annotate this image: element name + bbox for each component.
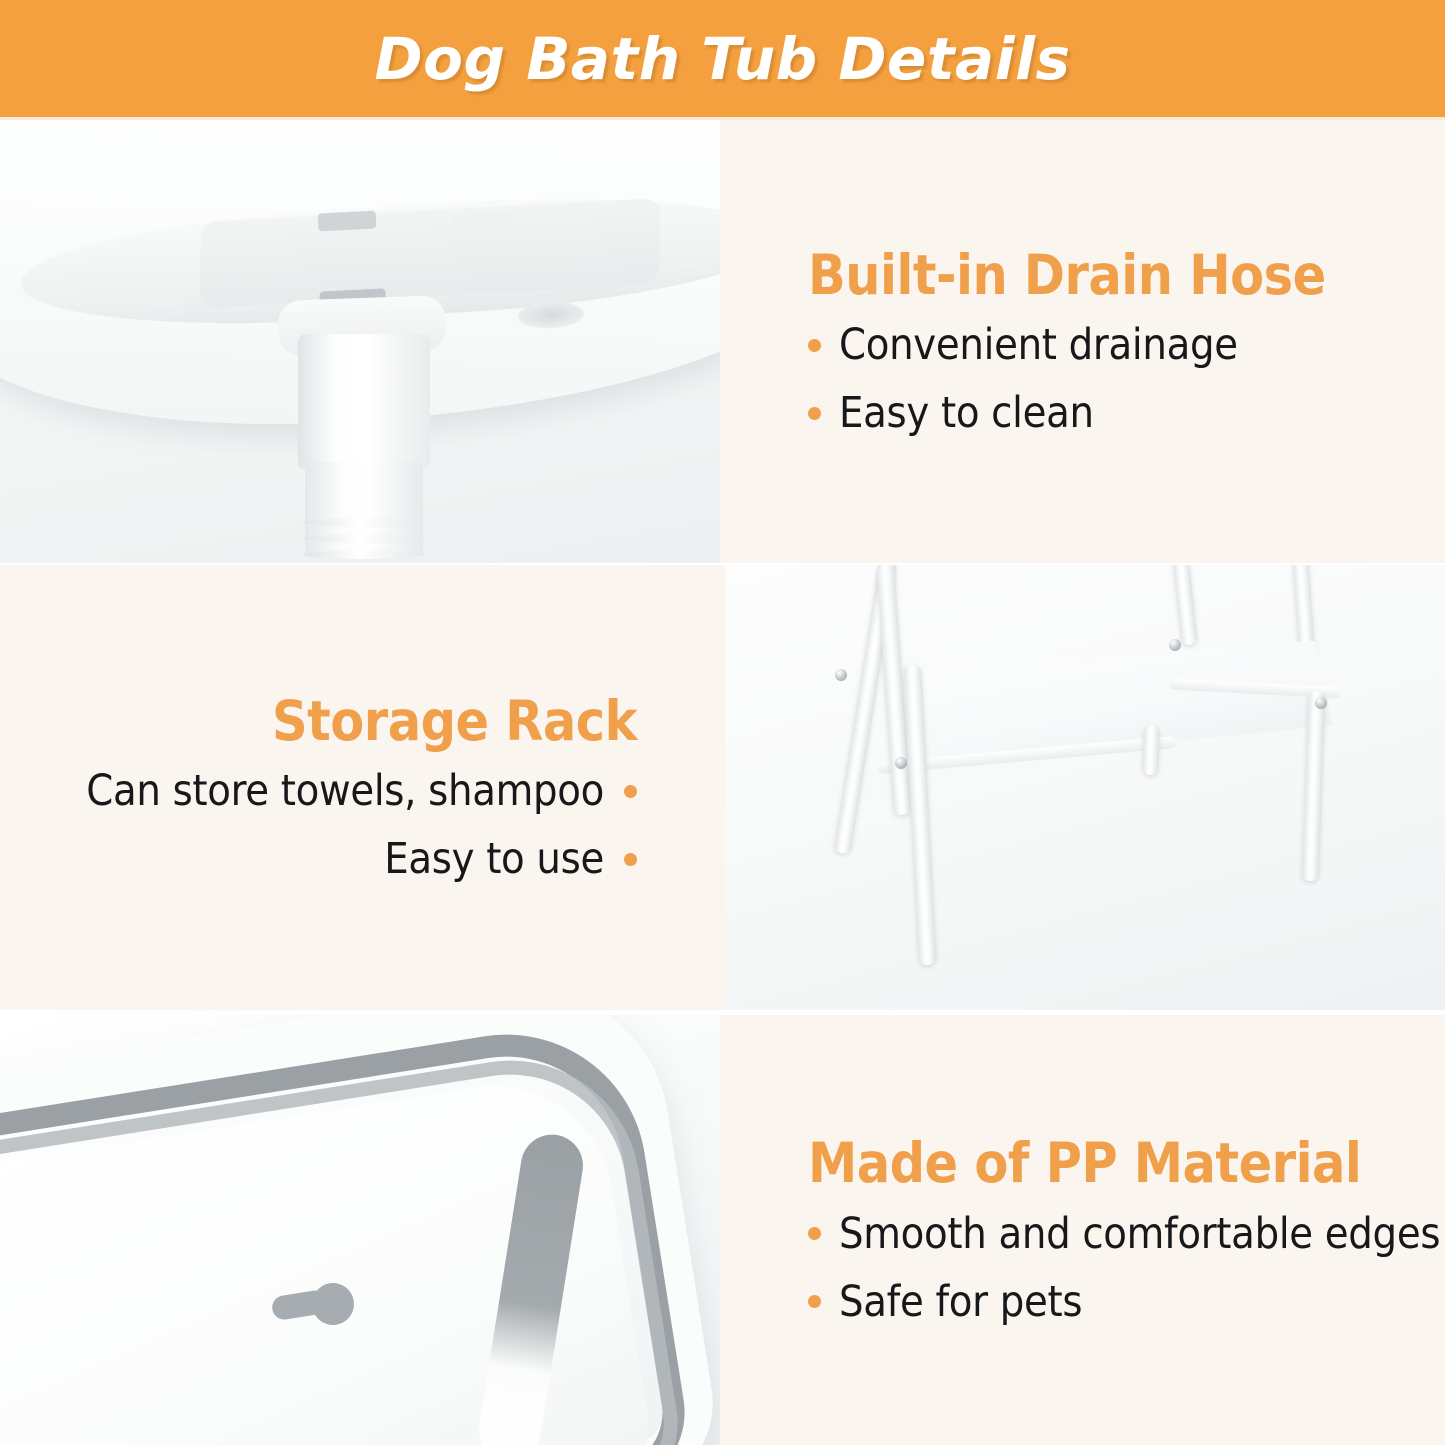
- feature-row-storage-rack: Storage Rack Can store towels, shampoo E…: [0, 565, 1445, 1010]
- storage-rack-image: [725, 565, 1445, 1010]
- rack-screw-icon: [895, 757, 907, 769]
- rack-screw-icon: [1169, 639, 1181, 651]
- bullet-dot-icon: [624, 853, 637, 866]
- page-title: Dog Bath Tub Details: [375, 30, 1071, 88]
- list-item: Can store towels, shampoo: [0, 767, 637, 815]
- list-item: Smooth and comfortable edges: [808, 1210, 1445, 1258]
- storage-rack-text-panel: Storage Rack Can store towels, shampoo E…: [0, 565, 725, 1010]
- feature-block: Built-in Drain Hose Convenient drainage …: [720, 246, 1445, 438]
- rack-screw-icon: [835, 669, 847, 681]
- list-item: Safe for pets: [808, 1278, 1445, 1326]
- feature-title: Made of PP Material: [808, 1134, 1445, 1193]
- feature-block: Made of PP Material Smooth and comfortab…: [720, 1134, 1445, 1326]
- feature-bullet-list: Smooth and comfortable edges Safe for pe…: [808, 1210, 1445, 1326]
- drain-hose-rib-shape: [303, 518, 425, 527]
- rack-leg-shape: [1172, 565, 1197, 646]
- infographic-page: Dog Bath Tub Details: [0, 0, 1445, 1445]
- list-item: Convenient drainage: [808, 321, 1445, 369]
- bullet-dot-icon: [808, 339, 821, 352]
- bullet-text: Easy to use: [384, 835, 604, 883]
- rack-screw-icon: [1315, 697, 1327, 709]
- list-item: Easy to clean: [808, 389, 1445, 437]
- bullet-text: Convenient drainage: [839, 321, 1238, 369]
- drain-hose-rib-shape: [303, 550, 425, 559]
- bullet-dot-icon: [808, 1227, 821, 1240]
- feature-row-pp-material: Made of PP Material Smooth and comfortab…: [0, 1015, 1445, 1445]
- feature-title: Built-in Drain Hose: [808, 246, 1445, 305]
- collapsed-tub-image: [0, 1015, 720, 1445]
- drain-hose-rib-shape: [303, 534, 425, 543]
- bullet-text: Safe for pets: [839, 1278, 1082, 1326]
- bullet-text: Smooth and comfortable edges: [839, 1210, 1440, 1258]
- drain-slot-shape: [318, 210, 377, 231]
- bullet-dot-icon: [808, 407, 821, 420]
- feature-title: Storage Rack: [0, 692, 637, 751]
- bullet-dot-icon: [624, 785, 637, 798]
- header-banner: Dog Bath Tub Details: [0, 0, 1445, 117]
- list-item: Easy to use: [0, 835, 637, 883]
- bullet-dot-icon: [808, 1295, 821, 1308]
- bullet-text: Can store towels, shampoo: [86, 767, 604, 815]
- drain-hose-pipe-shape: [298, 334, 430, 469]
- rack-leg-shape: [1142, 725, 1160, 776]
- drain-slot-shape: [452, 212, 515, 233]
- pp-material-text-panel: Made of PP Material Smooth and comfortab…: [720, 1015, 1445, 1445]
- feature-grid: Built-in Drain Hose Convenient drainage …: [0, 120, 1445, 1445]
- drain-hose-text-panel: Built-in Drain Hose Convenient drainage …: [720, 120, 1445, 563]
- bullet-text: Easy to clean: [839, 389, 1094, 437]
- feature-row-drain-hose: Built-in Drain Hose Convenient drainage …: [0, 120, 1445, 563]
- feature-bullet-list: Convenient drainage Easy to clean: [808, 321, 1445, 437]
- drain-hose-image: [0, 120, 720, 563]
- feature-block: Storage Rack Can store towels, shampoo E…: [0, 692, 725, 884]
- feature-bullet-list: Can store towels, shampoo Easy to use: [0, 767, 637, 883]
